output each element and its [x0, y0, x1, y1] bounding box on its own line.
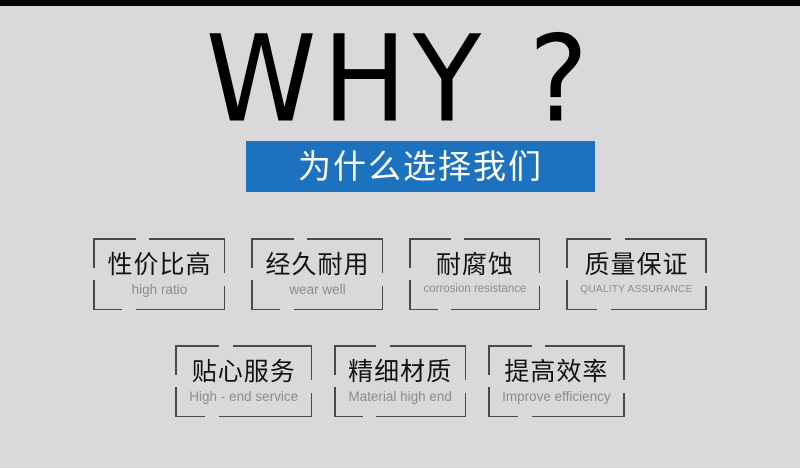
- feature-card[interactable]: 精细材质Material high end: [334, 345, 466, 417]
- corner-bracket-icon: [175, 345, 219, 347]
- corner-bracket-icon: [623, 393, 625, 417]
- corner-bracket-icon: [705, 286, 707, 310]
- corner-bracket-icon: [409, 309, 438, 311]
- corner-bracket-icon: [376, 416, 466, 418]
- feature-subtitle-en: High - end service: [189, 388, 298, 405]
- corner-bracket-icon: [465, 345, 467, 380]
- corner-bracket-icon: [251, 280, 253, 310]
- corner-bracket-icon: [451, 309, 540, 311]
- corner-bracket-icon: [465, 393, 467, 417]
- corner-bracket-icon: [93, 309, 122, 311]
- corner-bracket-icon: [93, 280, 95, 310]
- corner-bracket-icon: [175, 345, 177, 375]
- corner-bracket-icon: [566, 238, 568, 268]
- corner-bracket-icon: [623, 345, 625, 380]
- corner-bracket-icon: [334, 345, 336, 375]
- feature-card[interactable]: 经久耐用wear well: [251, 238, 383, 310]
- corner-bracket-icon: [224, 286, 226, 310]
- feature-card[interactable]: 质量保证QUALITY ASSURANCE: [566, 238, 706, 310]
- corner-bracket-icon: [136, 309, 226, 311]
- feature-subtitle-en: high ratio: [132, 281, 188, 298]
- corner-bracket-icon: [705, 238, 707, 273]
- corner-bracket-icon: [532, 416, 625, 418]
- corner-bracket-icon: [175, 416, 205, 418]
- corner-bracket-icon: [488, 345, 532, 347]
- corner-bracket-icon: [539, 286, 541, 310]
- corner-bracket-icon: [464, 238, 540, 240]
- corner-bracket-icon: [566, 238, 611, 240]
- corner-bracket-icon: [390, 345, 467, 347]
- feature-title-cn: 提高效率: [504, 358, 608, 386]
- feature-title-cn: 经久耐用: [265, 251, 369, 279]
- feature-title-cn: 贴心服务: [192, 358, 296, 386]
- corner-bracket-icon: [149, 238, 226, 240]
- feature-card[interactable]: 贴心服务High - end service: [175, 345, 312, 417]
- corner-bracket-icon: [311, 345, 313, 380]
- hero-section: WHY ? 为什么选择我们: [0, 6, 800, 196]
- corner-bracket-icon: [93, 238, 95, 268]
- feature-title-cn: 耐腐蚀: [436, 251, 514, 279]
- feature-subtitle-en: corrosion resistance: [423, 281, 526, 298]
- corner-bracket-icon: [251, 238, 293, 240]
- feature-title-cn: 性价比高: [107, 251, 211, 279]
- corner-bracket-icon: [488, 345, 490, 375]
- corner-bracket-icon: [409, 238, 451, 240]
- corner-bracket-icon: [233, 345, 312, 347]
- corner-bracket-icon: [224, 238, 226, 273]
- corner-bracket-icon: [566, 309, 597, 311]
- corner-bracket-icon: [219, 416, 312, 418]
- corner-bracket-icon: [625, 238, 706, 240]
- corner-bracket-icon: [545, 345, 624, 347]
- corner-bracket-icon: [311, 393, 313, 417]
- corner-bracket-icon: [251, 238, 253, 268]
- corner-bracket-icon: [409, 280, 411, 310]
- feature-row-1: 性价比高high ratio经久耐用wear well耐腐蚀corrosion …: [0, 238, 800, 310]
- feature-subtitle-en: Improve efficiency: [502, 388, 611, 405]
- corner-bracket-icon: [539, 238, 541, 273]
- corner-bracket-icon: [334, 345, 376, 347]
- corner-bracket-icon: [409, 238, 411, 268]
- corner-bracket-icon: [307, 238, 384, 240]
- corner-bracket-icon: [334, 416, 363, 418]
- corner-bracket-icon: [382, 286, 384, 310]
- page-title: WHY ?: [0, 20, 800, 140]
- corner-bracket-icon: [175, 387, 177, 417]
- corner-bracket-icon: [251, 309, 280, 311]
- corner-bracket-icon: [294, 309, 384, 311]
- corner-bracket-icon: [488, 387, 490, 417]
- feature-subtitle-en: QUALITY ASSURANCE: [580, 281, 692, 298]
- corner-bracket-icon: [93, 238, 135, 240]
- corner-bracket-icon: [611, 309, 706, 311]
- corner-bracket-icon: [566, 280, 568, 310]
- subtitle-banner: 为什么选择我们: [246, 141, 595, 192]
- feature-title-cn: 质量保证: [584, 251, 688, 279]
- corner-bracket-icon: [382, 238, 384, 273]
- feature-subtitle-en: wear well: [289, 281, 345, 298]
- corner-bracket-icon: [334, 387, 336, 417]
- subtitle-banner-label: 为什么选择我们: [298, 150, 543, 183]
- corner-bracket-icon: [488, 416, 518, 418]
- feature-row-2: 贴心服务High - end service精细材质Material high …: [0, 345, 800, 417]
- feature-card[interactable]: 耐腐蚀corrosion resistance: [409, 238, 540, 310]
- feature-title-cn: 精细材质: [348, 358, 452, 386]
- feature-card[interactable]: 性价比高high ratio: [93, 238, 225, 310]
- feature-subtitle-en: Material high end: [348, 388, 452, 405]
- feature-card[interactable]: 提高效率Improve efficiency: [488, 345, 625, 417]
